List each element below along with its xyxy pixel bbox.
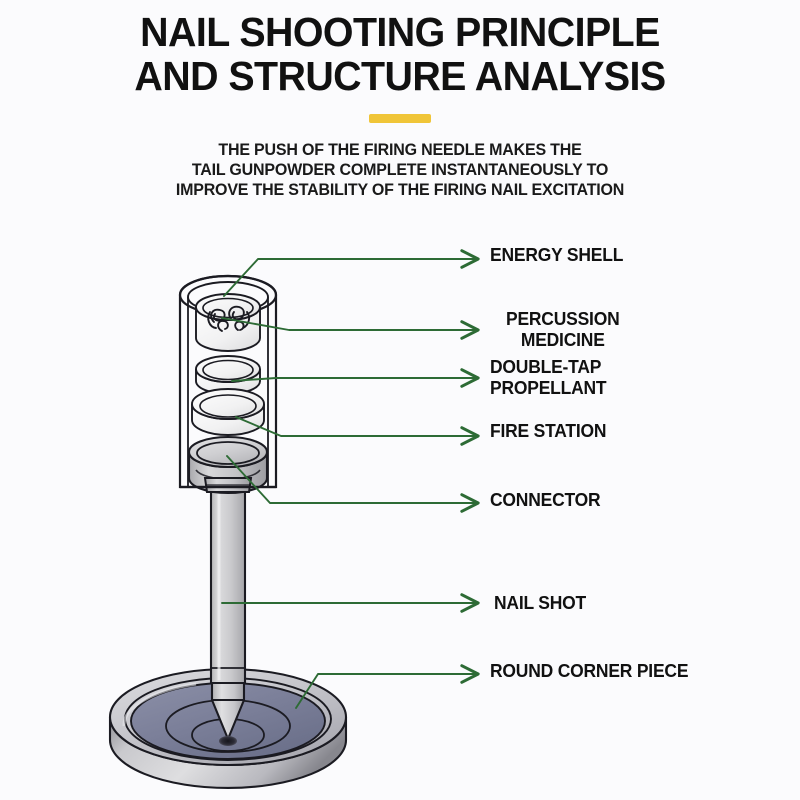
callout-label-nail-shot: NAIL SHOT: [494, 593, 586, 614]
connector-shape: [189, 437, 267, 493]
diagram-page: NAIL SHOOTING PRINCIPLE AND STRUCTURE AN…: [0, 0, 800, 800]
fire-station-shape: [192, 389, 264, 435]
leader-line-fire-station: [236, 417, 478, 436]
nail-shot-shape: [211, 490, 245, 746]
callout-label-connector: CONNECTOR: [490, 490, 600, 511]
callout-label-fire-station: FIRE STATION: [490, 421, 606, 442]
callout-label-energy-shell: ENERGY SHELL: [490, 245, 623, 266]
callout-label-percussion-medicine: PERCUSSION MEDICINE: [490, 309, 636, 351]
callout-label-round-corner-piece: ROUND CORNER PIECE: [490, 661, 688, 682]
leader-line-energy-shell: [224, 259, 478, 296]
callout-label-double-tap-propellant: DOUBLE-TAP PROPELLANT: [490, 357, 606, 399]
